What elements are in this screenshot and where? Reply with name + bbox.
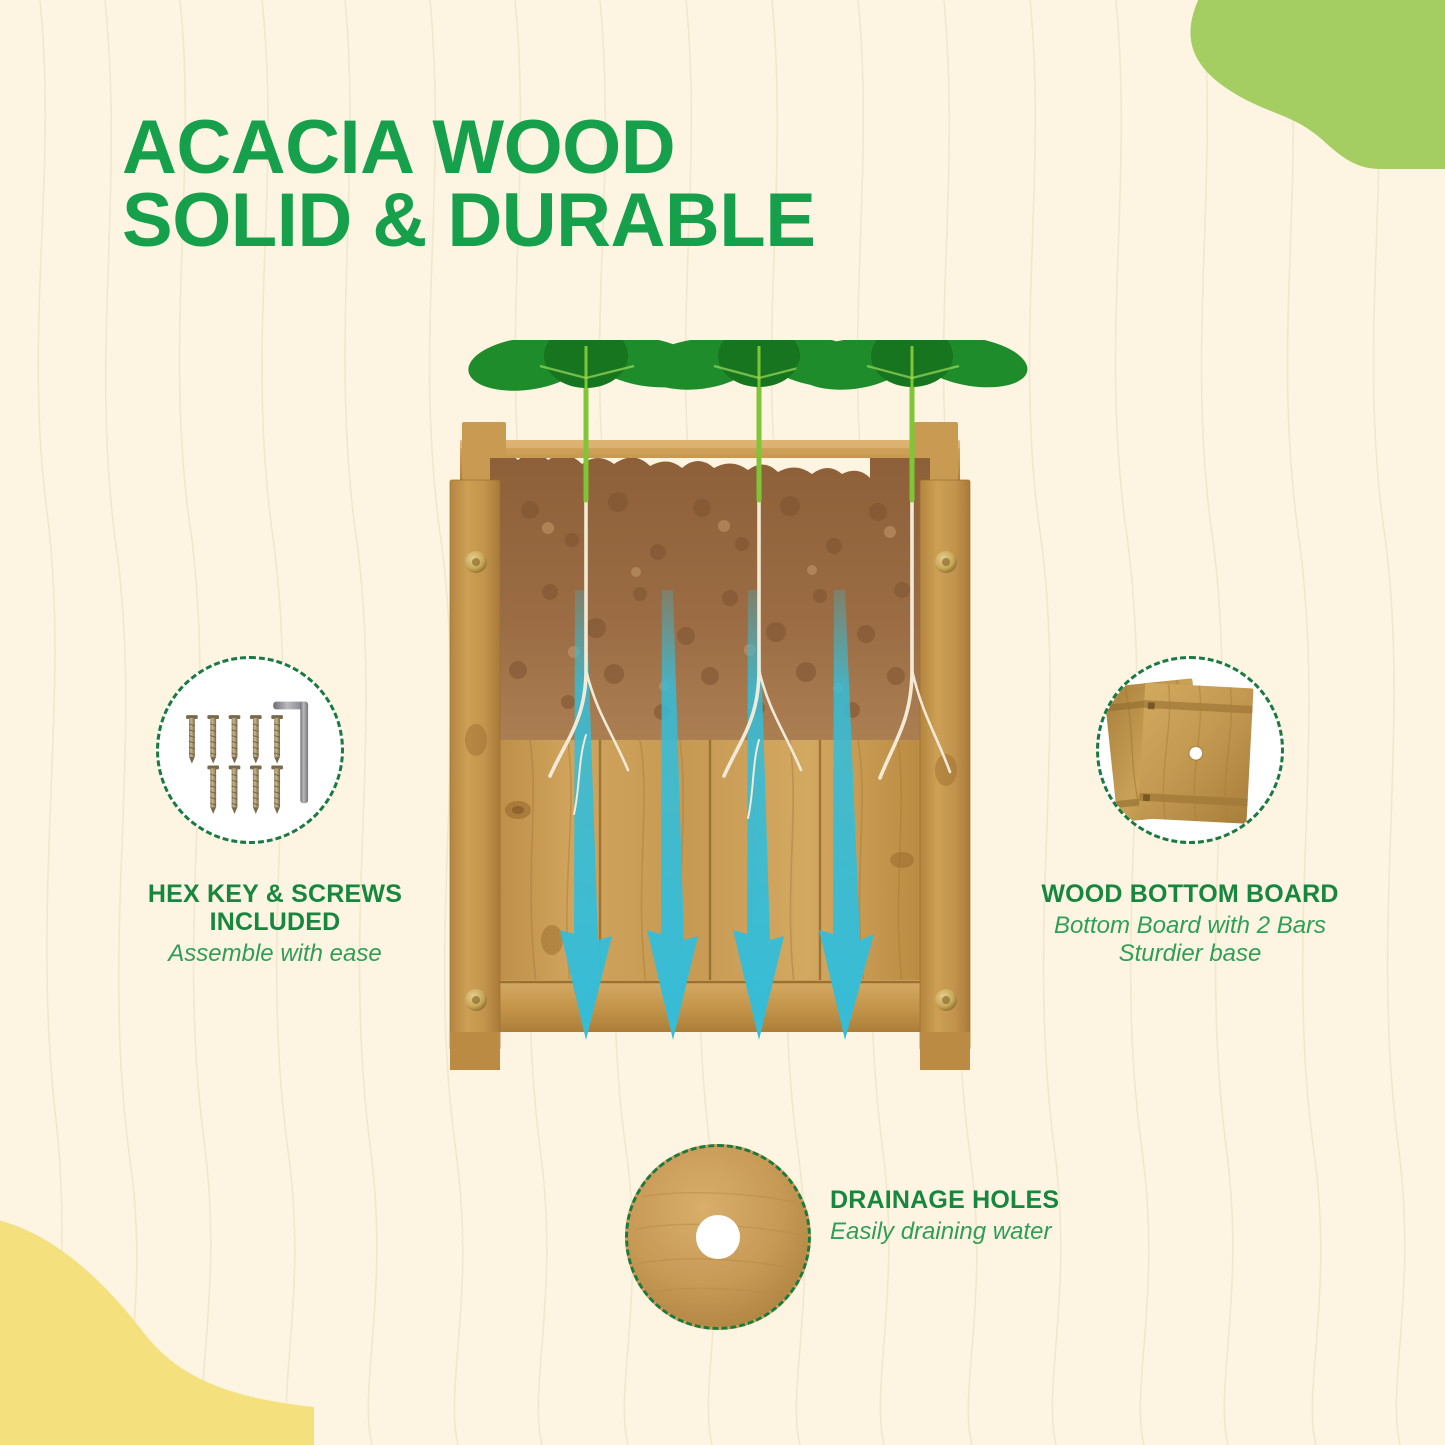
feature-subtitle-line-1: Bottom Board with 2 Bars [1054,912,1326,939]
decorative-yellow-blob-bottom-left [0,1161,314,1445]
drainage-hole-disc-icon [625,1144,811,1330]
feature-subtitle: Easily draining water [830,1218,1140,1246]
infographic-canvas: ACACIA WOOD SOLID & DURABLE [0,0,1445,1445]
feature-title-line-2: INCLUDED [210,908,341,936]
feature-title: WOOD BOTTOM BOARD [980,880,1400,908]
feature-title-line-1: HEX KEY & SCREWS [148,880,402,908]
feature-title: HEX KEY & SCREWS INCLUDED [70,880,480,936]
screws-and-hex-key-icon [156,656,344,844]
feature-subtitle-line-2: Sturdier base [1119,940,1262,967]
product-illustration [390,340,1030,1080]
wood-bottom-board-icon [1096,656,1284,844]
title-line-2: SOLID & DURABLE [122,185,815,258]
corner-post-right [920,480,970,1050]
feature-title: DRAINAGE HOLES [830,1186,1140,1214]
feature-wood-bottom-board-text: WOOD BOTTOM BOARD Bottom Board with 2 Ba… [980,880,1400,969]
feature-hex-key-screws-text: HEX KEY & SCREWS INCLUDED Assemble with … [70,880,480,968]
feature-subtitle: Assemble with ease [70,940,480,968]
feature-subtitle: Bottom Board with 2 Bars Sturdier base [980,912,1400,969]
page-title: ACACIA WOOD SOLID & DURABLE [122,112,815,258]
decorative-green-blob-top-right [1141,0,1445,169]
seedling-leaves [465,340,1030,397]
feature-drainage-holes-text: DRAINAGE HOLES Easily draining water [830,1186,1140,1246]
